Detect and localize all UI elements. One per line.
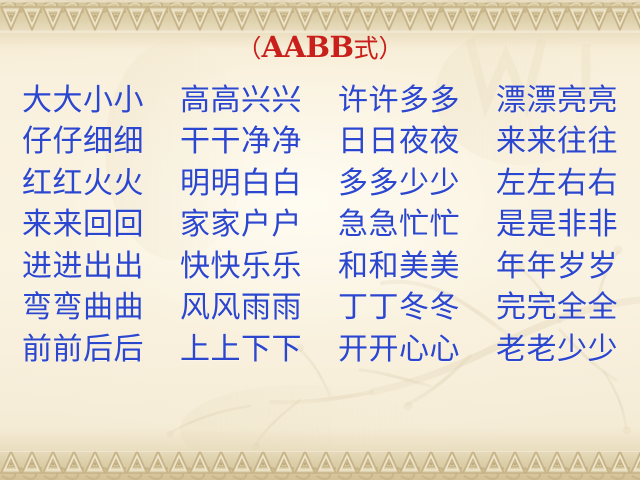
idiom-cell: 仔仔细细 [4, 122, 162, 164]
idiom-cell: 快快乐乐 [162, 246, 320, 288]
slide-content: （AABB式） 大大小小 高高兴兴 许许多多 漂漂亮亮 仔仔细细 干干净净 日日… [0, 0, 640, 480]
idiom-cell: 弯弯曲曲 [4, 288, 162, 330]
title-latin-aabb: AABB [261, 30, 353, 64]
title-suffix-shi: 式 [354, 34, 379, 63]
idiom-cell: 家家户户 [162, 205, 320, 247]
idiom-cell: 上上下下 [162, 329, 320, 371]
idiom-cell: 丁丁冬冬 [320, 288, 478, 330]
idiom-cell: 明明白白 [162, 163, 320, 205]
idiom-cell: 急急忙忙 [320, 205, 478, 247]
idiom-cell: 大大小小 [4, 80, 162, 122]
idiom-grid: 大大小小 高高兴兴 许许多多 漂漂亮亮 仔仔细细 干干净净 日日夜夜 来来往往 … [4, 80, 636, 371]
idiom-cell: 老老少少 [478, 329, 636, 371]
idiom-cell: 是是非非 [478, 205, 636, 247]
idiom-cell: 许许多多 [320, 80, 478, 122]
idiom-cell: 漂漂亮亮 [478, 80, 636, 122]
page-title: （AABB式） [0, 31, 640, 65]
idiom-cell: 高高兴兴 [162, 80, 320, 122]
idiom-cell: 来来回回 [4, 205, 162, 247]
idiom-cell: 左左右右 [478, 163, 636, 205]
idiom-cell: 干干净净 [162, 122, 320, 164]
idiom-cell: 和和美美 [320, 246, 478, 288]
idiom-cell: 完完全全 [478, 288, 636, 330]
idiom-cell: 风风雨雨 [162, 288, 320, 330]
idiom-cell: 来来往往 [478, 122, 636, 164]
idiom-cell: 日日夜夜 [320, 122, 478, 164]
idiom-cell: 红红火火 [4, 163, 162, 205]
idiom-cell: 前前后后 [4, 329, 162, 371]
idiom-cell: 开开心心 [320, 329, 478, 371]
title-paren-close: ） [379, 34, 404, 63]
idiom-cell: 年年岁岁 [478, 246, 636, 288]
slide-canvas: （AABB式） 大大小小 高高兴兴 许许多多 漂漂亮亮 仔仔细细 干干净净 日日… [0, 0, 640, 480]
idiom-cell: 多多少少 [320, 163, 478, 205]
idiom-cell: 进进出出 [4, 246, 162, 288]
title-paren-open: （ [236, 34, 261, 63]
